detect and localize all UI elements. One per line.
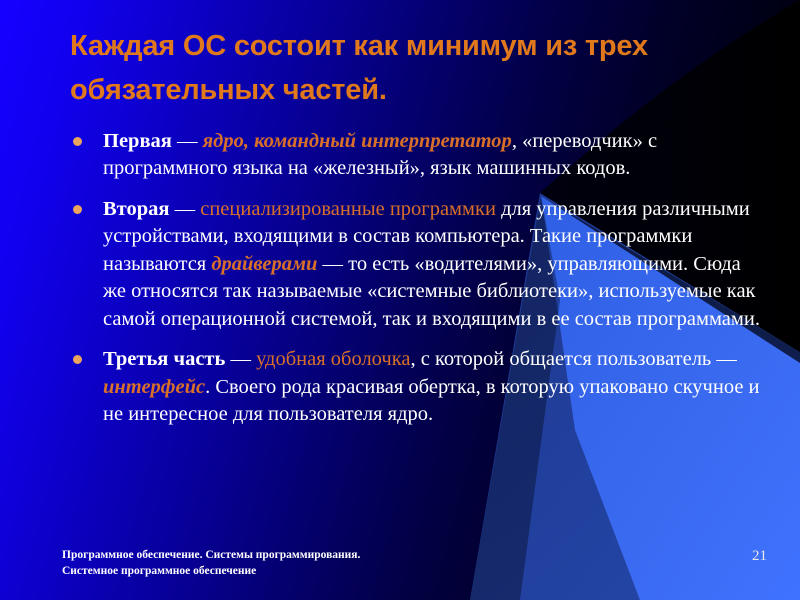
bullet-item-second: Вторая — специализированные программки д…: [62, 196, 762, 333]
bullet-lead-first: Первая: [103, 130, 172, 152]
bullet-dash-first: —: [172, 130, 203, 152]
round-bullet-icon: [73, 355, 82, 364]
presentation-slide: Каждая ОС состоит как минимум из трех об…: [0, 0, 800, 600]
bullet-accent-interface: интерфейс: [103, 376, 205, 398]
bullet-accent-first: ядро, командный интерпретатор: [203, 130, 512, 152]
bullet-item-third: Третья часть — удобная оболочка, с котор…: [62, 346, 762, 428]
bullet-accent-second: специализированные программки: [200, 198, 496, 220]
round-bullet-icon: [73, 205, 82, 214]
bullet-list: Первая — ядро, командный интерпретатор, …: [62, 128, 762, 429]
bullet-accent-drivers: драйверами: [211, 253, 317, 275]
bullet-body-third-a: , с которой общается пользователь —: [410, 348, 736, 370]
round-bullet-icon: [73, 137, 82, 146]
slide-title: Каждая ОС состоит как минимум из трех об…: [70, 24, 760, 112]
bullet-dash-second: —: [169, 198, 200, 220]
slide-number: 21: [752, 548, 767, 565]
bullet-lead-second: Вторая: [103, 198, 169, 220]
bullet-lead-third: Третья часть: [103, 348, 225, 370]
slide-footer: Программное обеспечение. Системы програм…: [62, 547, 392, 580]
bullet-dash-third: —: [225, 348, 256, 370]
bullet-item-first: Первая — ядро, командный интерпретатор, …: [62, 128, 762, 183]
bullet-accent-shell: удобная оболочка: [256, 348, 410, 370]
